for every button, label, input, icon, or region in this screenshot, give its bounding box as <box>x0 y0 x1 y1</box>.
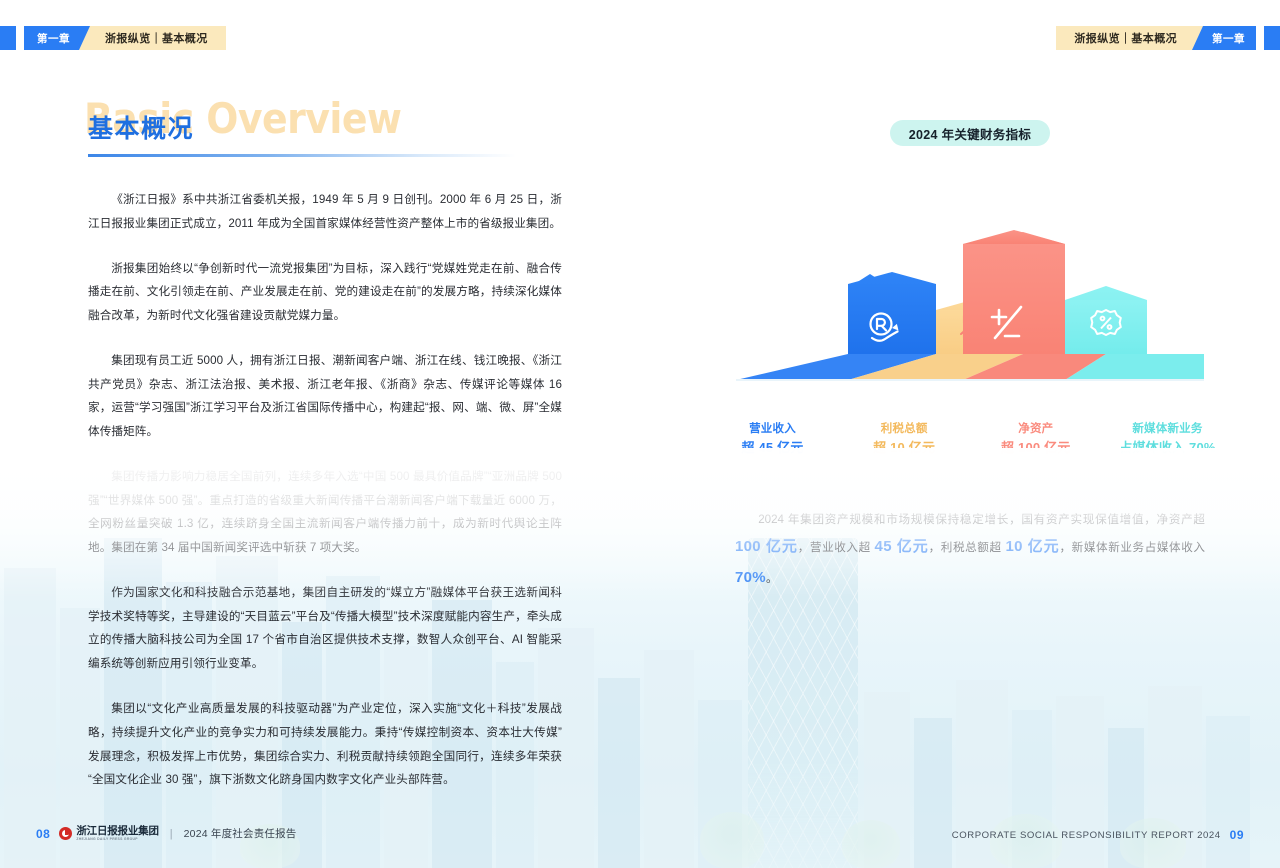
body-copy: 《浙江日报》系中共浙江省委机关报，1949 年 5 月 9 日创刊。2000 年… <box>88 188 562 813</box>
financial-panel: 2024 年关键财务指标 <box>700 120 1240 593</box>
footer-right: CORPORATE SOCIAL RESPONSIBILITY REPORT 2… <box>952 828 1244 842</box>
summary-value-revenue: 45 亿元 <box>875 538 929 555</box>
page-root: 第一章 浙报纵览｜基本概况 浙报纵览｜基本概况 第一章 Basic Overvi… <box>0 0 1280 868</box>
bar-net-assets <box>963 230 1065 354</box>
paragraph: 集团现有员工近 5000 人，拥有浙江日报、潮新闻客户端、浙江在线、钱江晚报、《… <box>88 349 562 444</box>
summary-tail: 。 <box>766 572 778 585</box>
paragraph: 《浙江日报》系中共浙江省委机关报，1949 年 5 月 9 日创刊。2000 年… <box>88 188 562 236</box>
chart-label-profit-tax: 利税总额 超 10 亿元 <box>842 422 967 456</box>
paragraph: 集团以“文化产业高质量发展的科技驱动器”为产业定位，深入实施“文化＋科技”发展战… <box>88 697 562 792</box>
title-underline <box>88 154 516 157</box>
chapter-tag-right: 第一章 <box>1192 26 1256 50</box>
section-tag-left: 浙报纵览｜基本概况 <box>79 26 226 50</box>
section-tag-right: 浙报纵览｜基本概况 <box>1056 26 1203 50</box>
summary-value-net-assets: 100 亿元 <box>735 538 798 555</box>
chart-label-net-assets: 净资产 超 100 亿元 <box>973 422 1098 456</box>
bar-ground-shadows <box>736 354 1204 380</box>
summary-mid-2: ，利税总额超 <box>929 541 1006 554</box>
footer-left: 08 浙江日报报业集团 ZHEJIANG DAILY PRESS GROUP |… <box>36 826 297 841</box>
summary-mid-3: ，新媒体新业务占媒体收入 <box>1060 541 1205 554</box>
group-logo-mark-icon <box>59 827 72 840</box>
running-header-left: 第一章 浙报纵览｜基本概况 <box>0 26 226 50</box>
page-number-left: 08 <box>36 827 50 841</box>
chart-label-new-media: 新媒体新业务 占媒体收入 70% <box>1105 422 1230 456</box>
page-title-chinese: 基本概况 <box>88 114 194 144</box>
chart-svg <box>720 168 1220 418</box>
group-logo-chinese: 浙江日报报业集团 <box>76 826 158 837</box>
chapter-tag-left: 第一章 <box>24 26 90 50</box>
group-logo-english: ZHEJIANG DAILY PRESS GROUP <box>76 838 158 841</box>
footer-divider-left: | <box>170 828 173 840</box>
page-number-right: 09 <box>1230 828 1244 842</box>
bar-new-media <box>1065 286 1147 354</box>
key-financial-indicators-chart <box>720 168 1220 418</box>
summary-value-profit-tax: 10 亿元 <box>1005 538 1059 555</box>
page-title: Basic Overview 基本概况 <box>88 100 518 172</box>
summary-value-new-media: 70% <box>735 569 766 586</box>
paragraph: 作为国家文化和科技融合示范基地，集团自主研发的“媒立方”融媒体平台获王选新闻科学… <box>88 581 562 676</box>
running-header-right: 浙报纵览｜基本概况 第一章 <box>1056 26 1280 50</box>
summary-lead: 2024 年集团资产规模和市场规模保持稳定增长，国有资产实现保值增值，净资产超 <box>758 513 1205 526</box>
bar-revenue <box>848 272 936 354</box>
footer-report-name-en: CORPORATE SOCIAL RESPONSIBILITY REPORT 2… <box>952 830 1221 841</box>
summary-mid-1: ，营业收入超 <box>798 541 875 554</box>
running-header-edge-right <box>1264 26 1280 50</box>
footer-report-name-cn: 2024 年度社会责任报告 <box>184 826 297 841</box>
paragraph: 浙报集团始终以“争创新时代一流党报集团”为目标，深入践行“党媒姓党走在前、融合传… <box>88 257 562 328</box>
chart-title-pill: 2024 年关键财务指标 <box>890 120 1050 146</box>
paragraph: 集团传播力影响力稳居全国前列，连续多年入选“中国 500 最具价值品牌”“亚洲品… <box>88 465 562 560</box>
group-logo: 浙江日报报业集团 ZHEJIANG DAILY PRESS GROUP <box>59 826 158 841</box>
financial-summary-text: 2024 年集团资产规模和市场规模保持稳定增长，国有资产实现保值增值，净资产超 … <box>735 508 1205 593</box>
running-header-edge-left <box>0 26 16 50</box>
page-footer: 08 浙江日报报业集团 ZHEJIANG DAILY PRESS GROUP |… <box>0 826 1280 850</box>
chart-category-labels: 营业收入 超 45 亿元 利税总额 超 10 亿元 净资产 超 100 亿元 新… <box>710 422 1230 456</box>
chart-label-revenue: 营业收入 超 45 亿元 <box>710 422 835 456</box>
